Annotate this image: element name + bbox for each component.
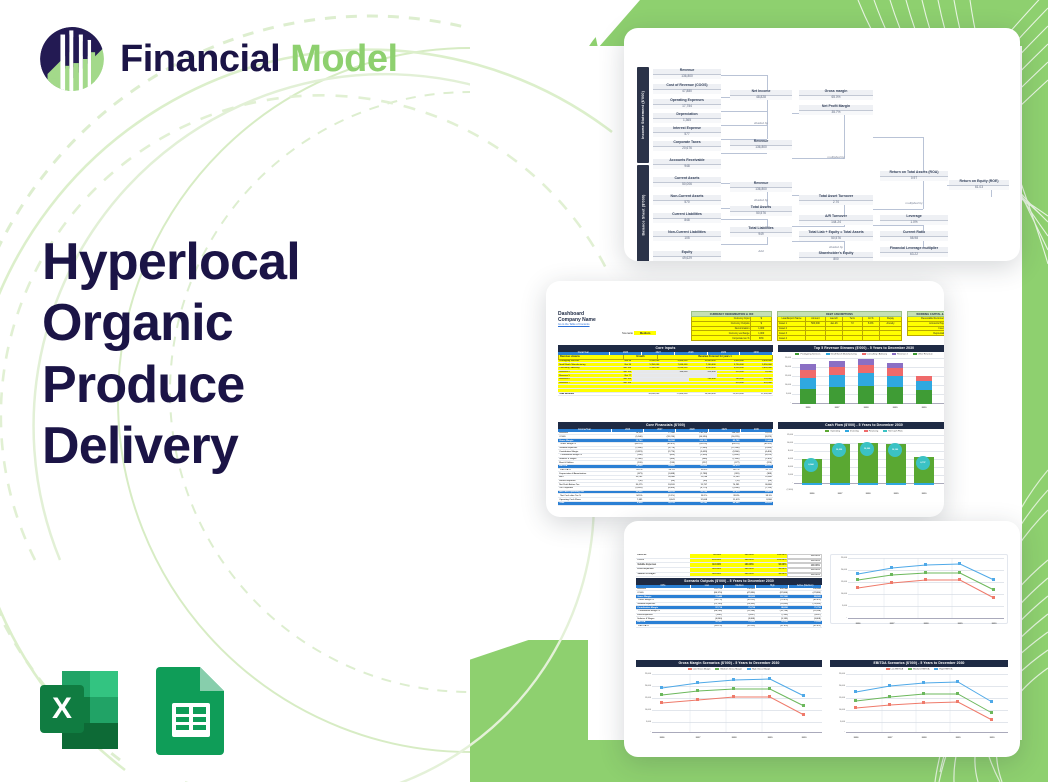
flow-operator: multiplied by [799,155,873,159]
brand-name-part2: Model [290,38,397,80]
file-format-badges: X [32,663,232,764]
brand-name-part1: Financial [120,38,290,80]
scenario-outputs-panel: Scenario Outputs ($'000) - 5 Years to De… [636,578,822,628]
flow-node: Total Asset Turnover2.70 [799,195,873,205]
flow-node: A/R Turnover144.24 [799,215,873,225]
scenario-body: Revenue80.00%100.00%120.00%100.00% COGS1… [636,554,1009,735]
chart-top5-revenue: Top 5 Revenue Streams ($'000) - 5 Years … [778,345,944,411]
assumption-block: WORKING CAPITAL & DEPRECIATION Receivabl… [907,311,944,336]
dashboard-title: Dashboard Company Name [558,311,596,324]
flow-node: Non-Current Assets570 [653,195,721,205]
flow-operator: divided by [730,121,792,125]
left-content-column: Financial Model Hyperlocal Organic Produ… [0,0,470,782]
screenshot-financial-flowchart[interactable]: Income Statement ($'000) Balance Sheet (… [624,28,1020,261]
flowchart-body: Income Statement ($'000) Balance Sheet (… [637,67,1010,239]
assumption-block: DEBT ASSUMPTIONS Loan/Export NameAmountL… [777,311,902,341]
flow-node: Return on Total Assets (ROA)0.97 [880,171,948,181]
headline-line-1: Hyperlocal [42,232,442,293]
screenshot-dashboard[interactable]: Dashboard Company Name Go to the Table o… [546,281,944,517]
flow-node: Equity49,629 [653,251,721,261]
flow-node: Financial Leverage multiplier63.22 [880,247,948,257]
screenshot-scenario-outputs[interactable]: Revenue80.00%100.00%120.00%100.00% COGS1… [624,521,1020,757]
assumption-block: CURRENCY DENOMINATION in 000 Currency In… [691,311,772,341]
flow-node: Total Liabilities949 [730,227,792,237]
band-balance-sheet: Balance Sheet ($'000) [637,165,649,261]
dashboard-toc-link[interactable]: Go to the Table of Contents [558,323,590,326]
flow-operator: divided by [799,245,873,249]
flow-node: Non-Current Liabilities105 [653,231,721,241]
core-inputs-panel: Core Inputs Fiscal Year20262027202820292… [558,345,773,396]
financial-model-logo-icon [38,25,106,93]
flow-node: Current Liabilities848 [653,213,721,223]
chart-ebitda-scenarios: EBITDA Scenarios ($'000) - 5 Years to De… [830,660,1008,742]
flow-node: Shareholder's Equity800 [799,252,873,261]
chart-revenue-scenarios: 25,00020,000 15,00010,000 5,000- [830,554,1008,624]
slide-canvas: Financial Model Hyperlocal Organic Produ… [0,0,1048,782]
flow-node: Leverage1.0% [880,215,948,225]
headline-line-2: Organic [42,293,442,354]
chart-gross-margin-scenarios: Gross Margin Scenarios ($'000) - 5 Years… [636,660,822,742]
flow-node: Revenue136,800 [653,69,721,79]
scenario-assumptions-table: Revenue80.00%100.00%120.00%100.00% COGS1… [636,554,822,577]
chart-cash-flow: Cash Flow ($'000) - 5 Years to December … [778,422,944,498]
flow-node: Depreciation1,365 [653,113,721,123]
brand-wordmark: Financial Model [120,38,398,81]
excel-icon: X [32,663,128,764]
flow-node: Current Assets50,006 [653,177,721,187]
page-title: Hyperlocal Organic Produce Delivery [42,232,442,477]
flow-node: Corporate Taxes20,676 [653,141,721,151]
flow-node: Operating Expenses17,754 [653,99,721,109]
flow-operator: divided by [730,198,792,202]
flow-operator: multiplied by [880,201,948,205]
flow-node: Total Assets50,576 [730,206,792,216]
flow-node: Revenue136,800 [730,140,792,150]
flow-node: Cost of Revenue (COGS)47,880 [653,84,721,94]
flow-node: Total Liab + Equity = Total Assets50,576 [799,231,873,241]
headline-line-3: Produce [42,355,442,416]
dashboard-body: Dashboard Company Name Go to the Table o… [558,311,933,491]
flow-node: Return on Equity (ROE)61.03 [949,180,1009,190]
flow-node: Net Income48,828 [730,90,792,100]
brand-logo: Financial Model [38,25,398,93]
band-income-statement: Income Statement ($'000) [637,67,649,163]
flow-node: Current Ratio58.98 [880,231,948,241]
flow-operator: Add [730,249,792,253]
headline-line-4: Delivery [42,416,442,477]
core-financials-panel: Core Financials ($'000) Income/Year20262… [558,422,773,506]
google-sheets-icon [150,663,232,764]
flow-node: Accounts Receivable948 [653,159,721,169]
flow-node: Net Profit Margin35.7% [799,105,873,115]
svg-text:X: X [52,692,72,725]
flow-node: Revenue136,800 [730,182,792,192]
flow-node: Gross margin65.0% [799,90,873,100]
flow-node: Interest Expense577 [653,127,721,137]
scenario-selector[interactable]: Scenario Medium [622,331,656,335]
